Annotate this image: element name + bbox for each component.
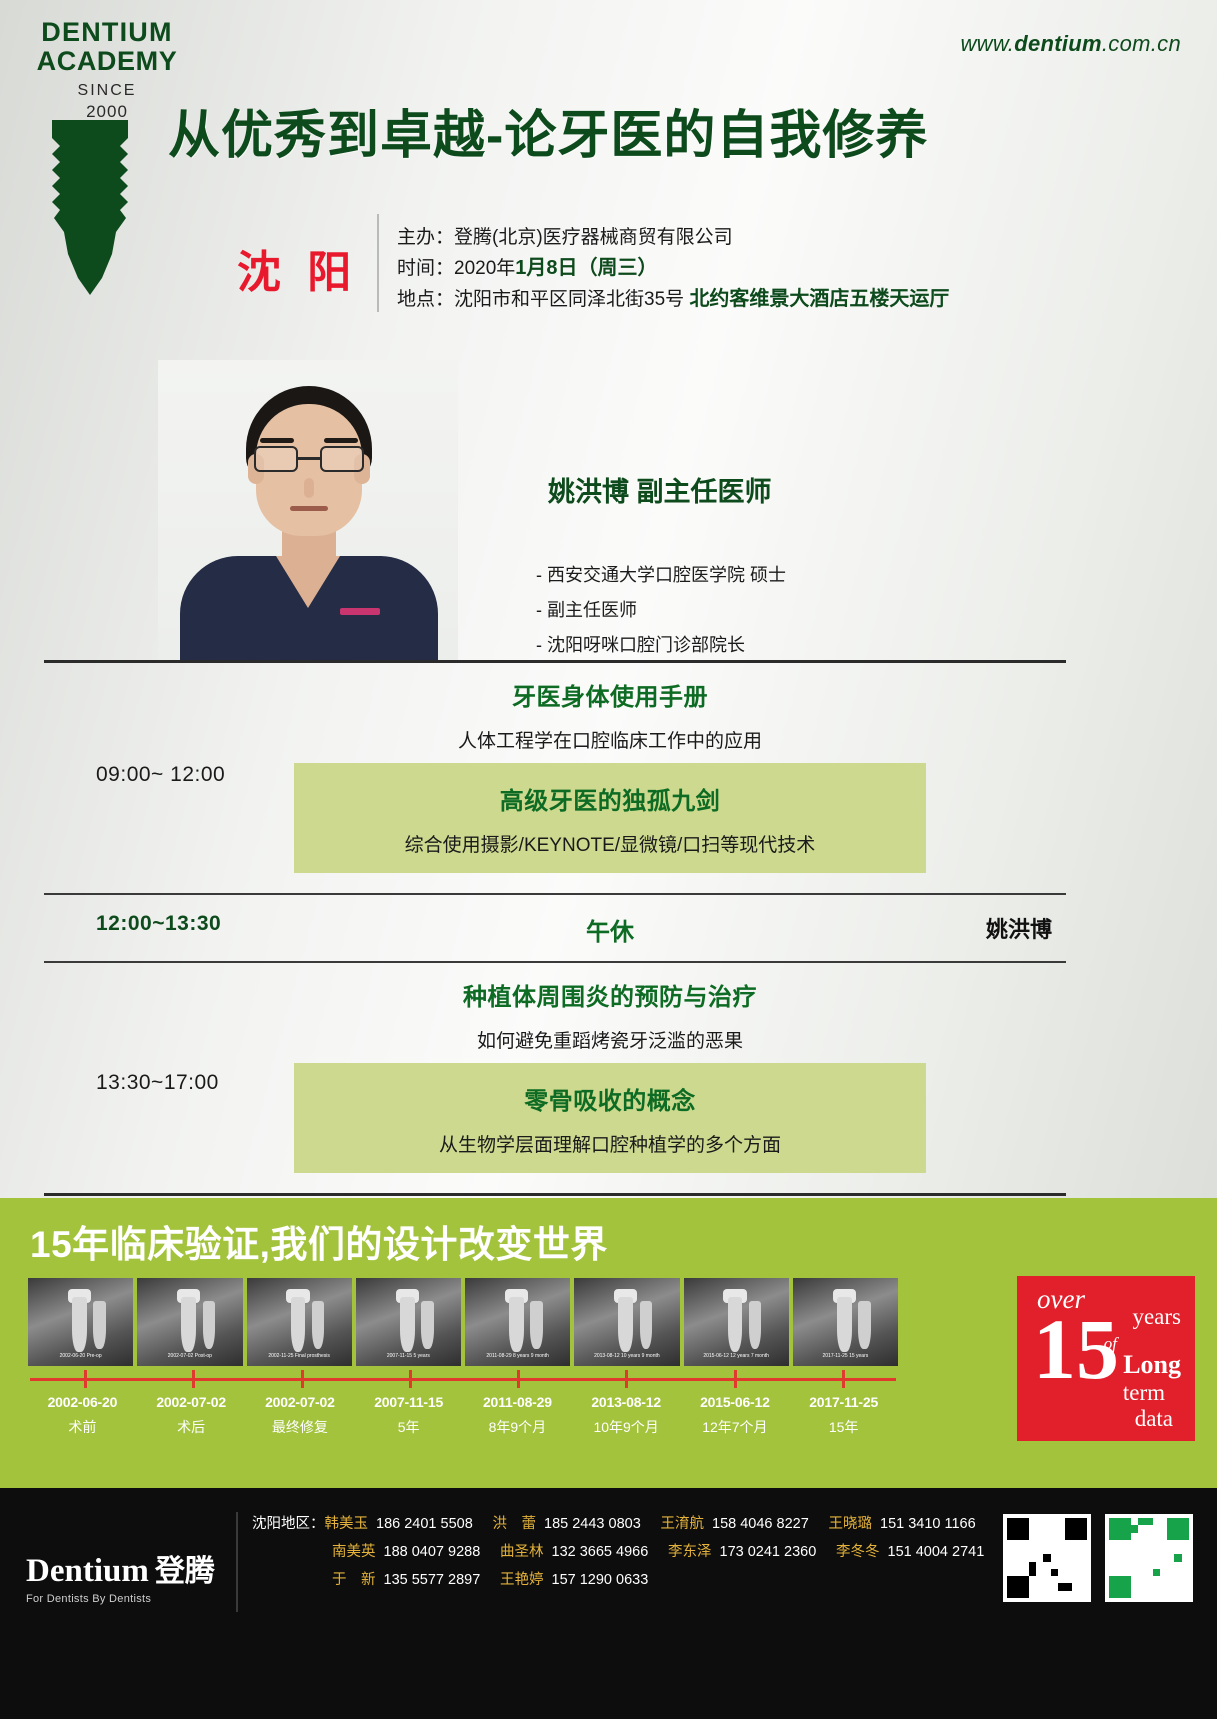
url-tld: .com.cn	[1102, 31, 1181, 56]
speaker-name-title: 姚洪博 副主任医师	[548, 470, 772, 509]
contact-phone: 135 5577 2897	[384, 1566, 481, 1594]
lunch-time: 12:00~13:30	[96, 912, 221, 936]
time-year: 2020年	[454, 258, 515, 279]
logo-line-dentium: DENTIUM	[32, 18, 182, 47]
contact-entry: 王艳婷157 1290 0633	[500, 1566, 668, 1594]
logo-since-label: SINCE	[32, 82, 182, 100]
session-block: 牙医身体使用手册 人体工程学在口腔临床工作中的应用	[294, 663, 926, 763]
xray-thumbnail: 2007-11-15 5 years	[356, 1278, 461, 1366]
host-label: 主办：	[397, 227, 454, 248]
qr-code-green[interactable]	[1105, 1514, 1193, 1602]
schedule-table: 09:00~ 12:00 牙医身体使用手册 人体工程学在口腔临床工作中的应用 高…	[44, 660, 1066, 1196]
timeline-item: 2002-07-02最终修复	[246, 1394, 355, 1437]
session-title: 牙医身体使用手册	[294, 677, 926, 712]
timeline-stage: 12年7个月	[681, 1417, 790, 1437]
contact-name: 洪 蕾	[493, 1510, 537, 1538]
xray-thumbnail: 2011-08-29 8 years 9 month	[465, 1278, 570, 1366]
schedule-row-morning: 09:00~ 12:00 牙医身体使用手册 人体工程学在口腔临床工作中的应用 高…	[44, 663, 1066, 893]
contact-entry: 李东泽173 0241 2360	[668, 1538, 836, 1566]
xray-thumbnail: 2002-07-02 Post-op	[137, 1278, 242, 1366]
speaker-photo	[158, 360, 458, 660]
timeline-date: 2002-07-02	[246, 1394, 355, 1410]
contact-name: 李冬冬	[836, 1538, 880, 1566]
credential-item: - 沈阳呀咪口腔门诊部院长	[536, 628, 786, 663]
timeline-date: 2015-06-12	[681, 1394, 790, 1410]
footer-brand: Dentium	[26, 1553, 149, 1589]
contact-phone: 185 2443 0803	[544, 1510, 641, 1538]
qr-code-wechat[interactable]	[1003, 1514, 1091, 1602]
contact-entry: 南美英188 0407 9288	[332, 1538, 500, 1566]
contact-row: 沈阳地区：韩美玉186 2401 5508洪 蕾185 2443 0803王淯航…	[252, 1510, 1004, 1538]
over-15-years-badge: over 15 years of Long term data	[1017, 1276, 1195, 1441]
contact-entry: 于 新135 5577 2897	[332, 1566, 500, 1594]
xray-caption: 2015-06-12 12 years 7 month	[684, 1352, 789, 1360]
timeline-item: 2007-11-155年	[354, 1394, 463, 1437]
timeline-item: 2017-11-2515年	[789, 1394, 898, 1437]
badge-of: of	[1104, 1334, 1117, 1354]
badge-years: years	[1132, 1304, 1181, 1330]
contact-entry: 王晓璐151 3410 1166	[829, 1510, 997, 1538]
xray-thumbnail: 2013-08-12 10 years 9 month	[574, 1278, 679, 1366]
contact-name: 李东泽	[668, 1538, 712, 1566]
session-block-highlighted: 零骨吸收的概念 从生物学层面理解口腔种植学的多个方面	[294, 1063, 926, 1173]
xray-caption: 2011-08-29 8 years 9 month	[465, 1352, 570, 1360]
timeline-item: 2002-06-20术前	[28, 1394, 137, 1437]
timeline-stage: 15年	[789, 1417, 898, 1437]
timeline-stage: 最终修复	[246, 1417, 355, 1437]
timeline-date: 2007-11-15	[354, 1394, 463, 1410]
contact-name: 于 新	[332, 1566, 376, 1594]
contact-phone: 151 3410 1166	[880, 1510, 976, 1538]
timeline-item: 2015-06-1212年7个月	[681, 1394, 790, 1437]
schedule-speaker-name: 姚洪博	[986, 912, 1052, 944]
region-label: 沈阳地区：	[252, 1510, 325, 1538]
contact-phone: 151 4004 2741	[888, 1538, 985, 1566]
contact-name: 曲圣林	[500, 1538, 544, 1566]
xray-image-strip: 2002-06-20 Pre-op2002-07-02 Post-op2002-…	[28, 1278, 898, 1366]
schedule-row-lunch: 12:00~13:30 午休 姚洪博	[44, 895, 1066, 961]
timeline-stage: 10年9个月	[572, 1417, 681, 1437]
contact-row: 于 新135 5577 2897王艳婷157 1290 0633	[252, 1566, 1004, 1594]
session-block-highlighted: 高级牙医的独孤九剑 综合使用摄影/KEYNOTE/显微镜/口扫等现代技术	[294, 763, 926, 873]
session-subtitle: 人体工程学在口腔临床工作中的应用	[294, 726, 926, 753]
xray-thumbnail: 2002-11-25 Final prosthesis	[247, 1278, 352, 1366]
timeline-stage: 5年	[354, 1417, 463, 1437]
contact-entry: 曲圣林132 3665 4966	[500, 1538, 668, 1566]
event-info: 主办：登腾(北京)医疗器械商贸有限公司 时间：2020年1月8日（周三） 地点：…	[397, 222, 949, 315]
contact-name: 韩美玉	[325, 1510, 369, 1538]
contact-name: 王艳婷	[500, 1566, 544, 1594]
afternoon-time: 13:30~17:00	[96, 1071, 219, 1095]
event-place-line: 地点：沈阳市和平区同泽北街35号 北约客维景大酒店五楼天运厅	[397, 284, 949, 315]
credential-item: - 副主任医师	[536, 593, 786, 628]
page-title: 从优秀到卓越-论牙医的自我修养	[168, 93, 928, 168]
contact-name: 王淯航	[661, 1510, 705, 1538]
logo-since-year: 2000	[32, 102, 182, 122]
timeline-stage: 术后	[137, 1417, 246, 1437]
event-city: 沈 阳	[237, 236, 358, 300]
place-label: 地点：	[397, 289, 454, 310]
contact-phone: 132 3665 4966	[552, 1538, 649, 1566]
lunch-label: 午休	[294, 912, 926, 947]
contact-row: 南美英188 0407 9288曲圣林132 3665 4966李东泽173 0…	[252, 1538, 1004, 1566]
host-value: 登腾(北京)医疗器械商贸有限公司	[454, 227, 733, 248]
credential-item: - 西安交通大学口腔医学院 硕士	[536, 558, 786, 593]
session-title: 零骨吸收的概念	[294, 1081, 926, 1116]
xray-caption: 2002-07-02 Post-op	[137, 1352, 242, 1360]
contact-entry: 李冬冬151 4004 2741	[836, 1538, 1004, 1566]
timeline-item: 2002-07-02术后	[137, 1394, 246, 1437]
timeline-date: 2017-11-25	[789, 1394, 898, 1410]
badge-long: Long	[1123, 1350, 1181, 1380]
xray-caption: 2002-11-25 Final prosthesis	[247, 1352, 352, 1360]
xray-caption: 2007-11-15 5 years	[356, 1352, 461, 1360]
timeline-stage: 术前	[28, 1417, 137, 1437]
contact-entry: 王淯航158 4046 8227	[661, 1510, 829, 1538]
place-venue: 北约客维景大酒店五楼天运厅	[689, 288, 949, 310]
morning-time: 09:00~ 12:00	[96, 763, 225, 787]
timeline-date: 2011-08-29	[463, 1394, 572, 1410]
contact-entry: 洪 蕾185 2443 0803	[493, 1510, 661, 1538]
timeline-axis	[30, 1378, 896, 1381]
contact-entry: 韩美玉186 2401 5508	[325, 1510, 493, 1538]
footer-logo: Dentium登腾 For Dentists By Dentists	[26, 1546, 215, 1605]
session-title: 种植体周围炎的预防与治疗	[294, 977, 926, 1012]
place-address: 沈阳市和平区同泽北街35号	[454, 289, 684, 310]
eyeglasses-icon	[254, 446, 364, 472]
timeline-item: 2011-08-298年9个月	[463, 1394, 572, 1437]
session-subtitle: 如何避免重蹈烤瓷牙泛滥的恶果	[294, 1026, 926, 1053]
xray-caption: 2013-08-12 10 years 9 month	[574, 1352, 679, 1360]
session-block: 种植体周围炎的预防与治疗 如何避免重蹈烤瓷牙泛滥的恶果	[294, 963, 926, 1063]
session-title: 高级牙医的独孤九剑	[294, 781, 926, 816]
url-brand: dentium	[1014, 31, 1102, 56]
footer-brand-cn: 登腾	[155, 1555, 215, 1588]
timeline-date: 2013-08-12	[572, 1394, 681, 1410]
xray-caption: 2002-06-20 Pre-op	[28, 1352, 133, 1360]
schedule-row-afternoon: 13:30~17:00 种植体周围炎的预防与治疗 如何避免重蹈烤瓷牙泛滥的恶果 …	[44, 963, 1066, 1193]
contact-phone: 173 0241 2360	[720, 1538, 817, 1566]
contact-list: 沈阳地区：韩美玉186 2401 5508洪 蕾185 2443 0803王淯航…	[252, 1510, 1004, 1594]
timeline-stage: 8年9个月	[463, 1417, 572, 1437]
session-subtitle: 综合使用摄影/KEYNOTE/显微镜/口扫等现代技术	[294, 830, 926, 857]
contact-name: 王晓璐	[829, 1510, 873, 1538]
contact-phone: 186 2401 5508	[376, 1510, 473, 1538]
info-divider	[377, 214, 379, 312]
dental-implant-icon	[46, 120, 134, 295]
timeline-date: 2002-06-20	[28, 1394, 137, 1410]
badge-data: data	[1135, 1406, 1173, 1432]
footer-bar: Dentium登腾 For Dentists By Dentists 沈阳地区：…	[0, 1488, 1217, 1719]
footer-tagline: For Dentists By Dentists	[26, 1593, 215, 1605]
contact-phone: 157 1290 0633	[552, 1566, 649, 1594]
xray-caption: 2017-11-25 15 years	[793, 1352, 898, 1360]
timeline-item: 2013-08-1210年9个月	[572, 1394, 681, 1437]
badge-term: term	[1123, 1380, 1165, 1406]
promo-headline: 15年临床验证,我们的设计改变世界	[30, 1214, 608, 1268]
contact-name: 南美英	[332, 1538, 376, 1566]
url-www: www.	[960, 31, 1014, 56]
event-time-line: 时间：2020年1月8日（周三）	[397, 253, 949, 284]
footer-divider	[236, 1512, 238, 1612]
schedule-bottom-rule	[44, 1193, 1066, 1196]
website-url[interactable]: www.dentium.com.cn	[960, 31, 1181, 57]
speaker-credentials: - 西安交通大学口腔医学院 硕士 - 副主任医师 - 沈阳呀咪口腔门诊部院长	[536, 558, 786, 663]
xray-thumbnail: 2015-06-12 12 years 7 month	[684, 1278, 789, 1366]
promo-banner: 15年临床验证,我们的设计改变世界 2002-06-20 Pre-op2002-…	[0, 1198, 1217, 1488]
contact-phone: 188 0407 9288	[384, 1538, 481, 1566]
timeline-labels: 2002-06-20术前2002-07-02术后2002-07-02最终修复20…	[28, 1394, 898, 1437]
time-label: 时间：	[397, 258, 454, 279]
timeline-date: 2002-07-02	[137, 1394, 246, 1410]
logo-line-academy: ACADEMY	[32, 47, 182, 76]
event-host-line: 主办：登腾(北京)医疗器械商贸有限公司	[397, 222, 949, 253]
session-subtitle: 从生物学层面理解口腔种植学的多个方面	[294, 1130, 926, 1157]
time-date: 1月8日（周三）	[515, 257, 657, 279]
xray-thumbnail: 2017-11-25 15 years	[793, 1278, 898, 1366]
xray-thumbnail: 2002-06-20 Pre-op	[28, 1278, 133, 1366]
poster-root: DENTIUM ACADEMY SINCE 2000 www.dentium.c…	[0, 0, 1217, 1719]
dentium-academy-logo: DENTIUM ACADEMY SINCE 2000	[32, 18, 182, 122]
contact-phone: 158 4046 8227	[712, 1510, 809, 1538]
